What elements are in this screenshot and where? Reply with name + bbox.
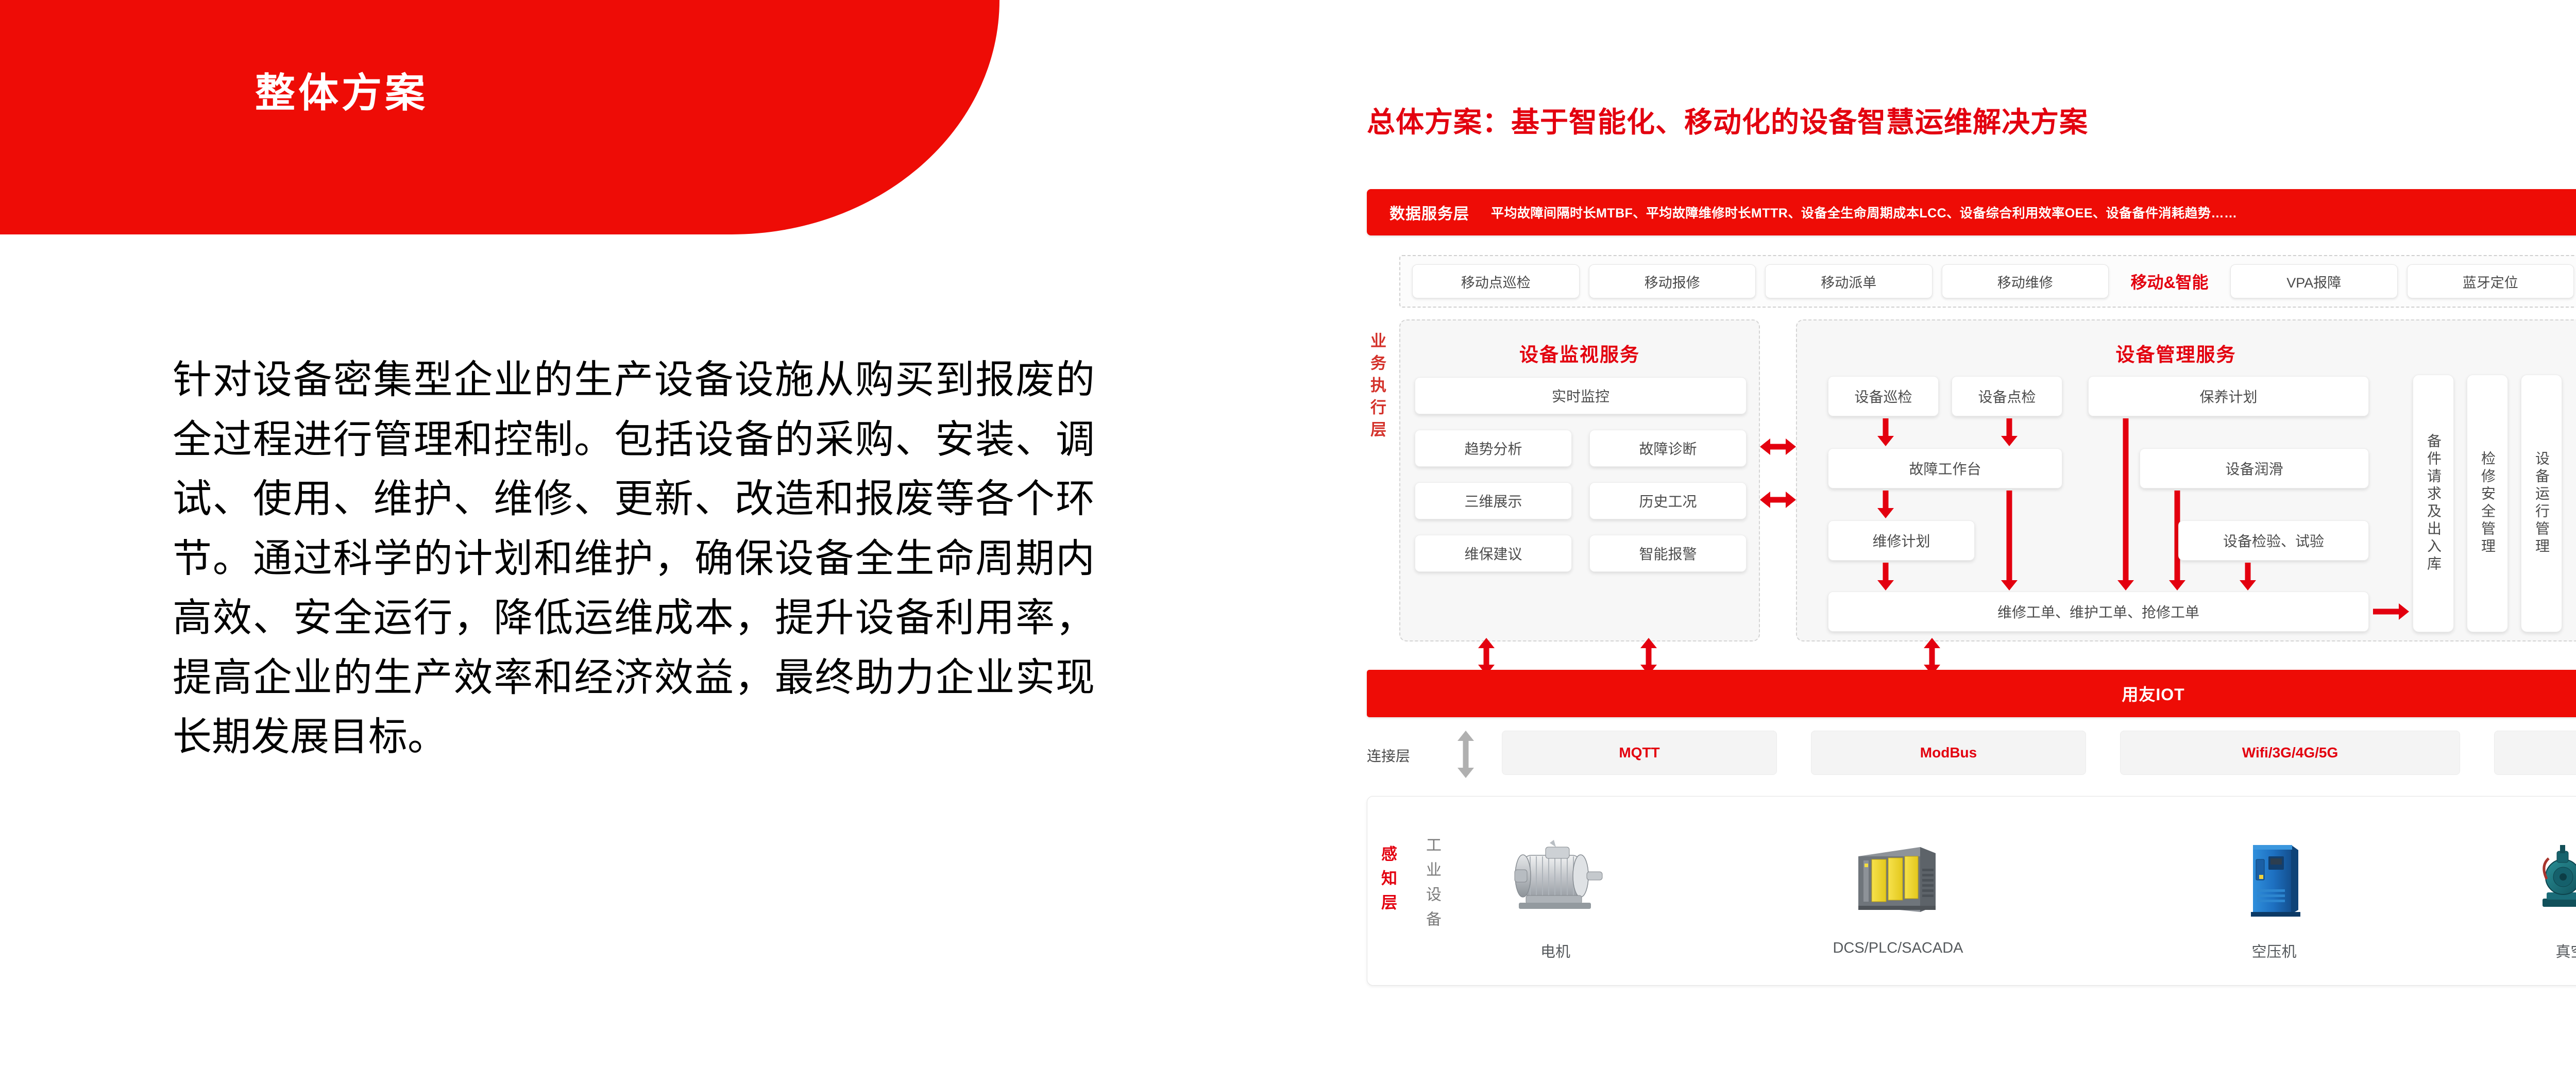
- box-realtime-monitoring[interactable]: 实时监控: [1415, 377, 1747, 414]
- mobile-intelligent-label: 移动&智能: [2118, 264, 2221, 298]
- protocol-wireless[interactable]: Wifi/3G/4G/5G: [2120, 731, 2460, 775]
- air-compressor-icon: [2197, 821, 2351, 939]
- data-service-layer-bar: 数据服务层 平均故障间隔时长MTBF、平均故障维修时长MTTR、设备全生命周期成…: [1367, 189, 2576, 235]
- box-trend-analysis[interactable]: 趋势分析: [1415, 430, 1572, 467]
- device-vacuum-pump-caption: 真空泵: [2501, 940, 2576, 961]
- box-fault-workbench[interactable]: 故障工作台: [1828, 448, 2062, 488]
- equipment-management-title: 设备管理服务: [1797, 339, 2555, 367]
- box-equipment-patrol[interactable]: 设备巡检: [1828, 376, 1939, 416]
- vacuum-pump-icon: [2501, 821, 2576, 939]
- chip-mobile-maintenance[interactable]: 移动维修: [1942, 264, 2109, 298]
- arrow-workbench-to-repairplan: [1875, 491, 1896, 518]
- chip-mobile-repair-request[interactable]: 移动报修: [1589, 264, 1756, 298]
- box-work-orders[interactable]: 维修工单、维护工单、抢修工单: [1828, 591, 2369, 632]
- sensing-layer-label: 感知层: [1380, 846, 1396, 918]
- business-execution-layer-label: 业务执行层: [1354, 332, 1385, 443]
- box-equipment-inspection-test[interactable]: 设备检验、试验: [2178, 520, 2369, 561]
- page-title: 整体方案: [255, 72, 428, 114]
- data-service-layer-label: 数据服务层: [1389, 201, 1469, 224]
- device-vacuum-pump: 真空泵: [2501, 821, 2576, 961]
- arrow-spotcheck-to-workbench: [1999, 418, 2020, 446]
- motor-icon: [1478, 821, 1633, 939]
- sensing-layer: 感知层 工业设备: [1367, 796, 2576, 986]
- arrow-monitor-manage-lower: [1760, 487, 1796, 513]
- box-3d-display[interactable]: 三维展示: [1415, 482, 1572, 519]
- connection-layer-label: 连接层: [1367, 745, 1410, 766]
- column-equipment-operation-label: 设备运行管理: [2534, 451, 2549, 556]
- box-equipment-spotcheck[interactable]: 设备点检: [1952, 376, 2062, 416]
- service-panels: 设备监视服务 实时监控 趋势分析 故障诊断 三维展示 历史工况 维保建议 智能报…: [1399, 319, 2576, 641]
- equipment-management-panel: 设备管理服务 设备巡检 设备点检 故障工作台 维修计划: [1796, 319, 2576, 641]
- arrow-connect-vertical: [1455, 731, 1476, 778]
- iot-platform-bar: 用友IOT: [1367, 670, 2576, 717]
- solution-diagram: 总体方案：基于智能化、移动化的设备智慧运维解决方案 数据服务层 平均故障间隔时长…: [1350, 77, 2576, 1000]
- arrow-inspectiontest-to-workorders: [2238, 563, 2258, 590]
- device-control-cabinet: DCS/PLC/SACADA: [1821, 821, 1975, 957]
- chip-mobile-point-inspection[interactable]: 移动点巡检: [1412, 264, 1580, 298]
- device-motor: 电机: [1478, 821, 1633, 961]
- diagram-title: 总体方案：基于智能化、移动化的设备智慧运维解决方案: [1367, 99, 2088, 140]
- box-equipment-lubrication[interactable]: 设备润滑: [2140, 448, 2369, 488]
- column-overhaul-safety-label: 检修安全管理: [2480, 451, 2495, 556]
- mobile-intelligent-strip: 移动点巡检 移动报修 移动派单 移动维修 移动&智能 VPA报障 蓝牙定位 知识…: [1399, 255, 2576, 308]
- protocol-more: ……: [2494, 731, 2576, 775]
- device-air-compressor: 空压机: [2197, 821, 2351, 961]
- protocol-modbus[interactable]: ModBus: [1811, 731, 2086, 775]
- box-historical-conditions[interactable]: 历史工况: [1589, 482, 1747, 519]
- arrow-workbench-to-workorders: [1999, 491, 2020, 590]
- column-spare-parts-request[interactable]: 备件请求及出入库: [2413, 375, 2454, 632]
- control-cabinet-icon: [1821, 821, 1975, 939]
- arrow-maintplan-to-workorders: [2115, 418, 2136, 590]
- column-overhaul-safety-management[interactable]: 检修安全管理: [2467, 375, 2508, 632]
- chip-vpa-fault-report[interactable]: VPA报障: [2230, 264, 2398, 298]
- device-control-cabinet-caption: DCS/PLC/SACADA: [1821, 940, 1975, 957]
- slide-root: 整体方案 针对设备密集型企业的生产设备设施从购买到报废的全过程进行管理和控制。包…: [0, 0, 2576, 1082]
- device-motor-caption: 电机: [1478, 940, 1633, 961]
- column-equipment-operation-management[interactable]: 设备运行管理: [2521, 375, 2562, 632]
- box-maintenance-advice[interactable]: 维保建议: [1415, 535, 1572, 572]
- box-intelligent-alarm[interactable]: 智能报警: [1589, 535, 1747, 572]
- arrow-patrol-to-workbench: [1875, 418, 1896, 446]
- chip-mobile-dispatch[interactable]: 移动派单: [1765, 264, 1933, 298]
- column-spare-parts-request-label: 备件请求及出入库: [2426, 433, 2441, 573]
- chip-bluetooth-positioning[interactable]: 蓝牙定位: [2407, 264, 2574, 298]
- hero-banner: 整体方案: [0, 0, 999, 234]
- body-paragraph: 针对设备密集型企业的生产设备设施从购买到报废的全过程进行管理和控制。包括设备的采…: [173, 350, 1095, 767]
- box-repair-plan[interactable]: 维修计划: [1828, 520, 1975, 561]
- industrial-equipment-label: 工业设备: [1424, 837, 1439, 936]
- arrow-repairplan-to-workorders: [1875, 563, 1896, 590]
- connection-layer: 连接层 MQTT ModBus Wifi/3G/4G/5G ……: [1367, 731, 2576, 781]
- device-air-compressor-caption: 空压机: [2197, 940, 2351, 961]
- equipment-monitoring-title: 设备监视服务: [1400, 339, 1759, 367]
- box-maintenance-plan[interactable]: 保养计划: [2088, 376, 2369, 416]
- protocol-mqtt[interactable]: MQTT: [1502, 731, 1777, 775]
- arrow-workorders-to-spareparts: [2373, 599, 2409, 624]
- data-service-layer-metrics: 平均故障间隔时长MTBF、平均故障维修时长MTTR、设备全生命周期成本LCC、设…: [1491, 203, 2238, 222]
- box-fault-diagnosis[interactable]: 故障诊断: [1589, 430, 1747, 467]
- arrow-monitor-manage-upper: [1760, 434, 1796, 460]
- equipment-monitoring-panel: 设备监视服务 实时监控 趋势分析 故障诊断 三维展示 历史工况 维保建议 智能报…: [1399, 319, 1760, 641]
